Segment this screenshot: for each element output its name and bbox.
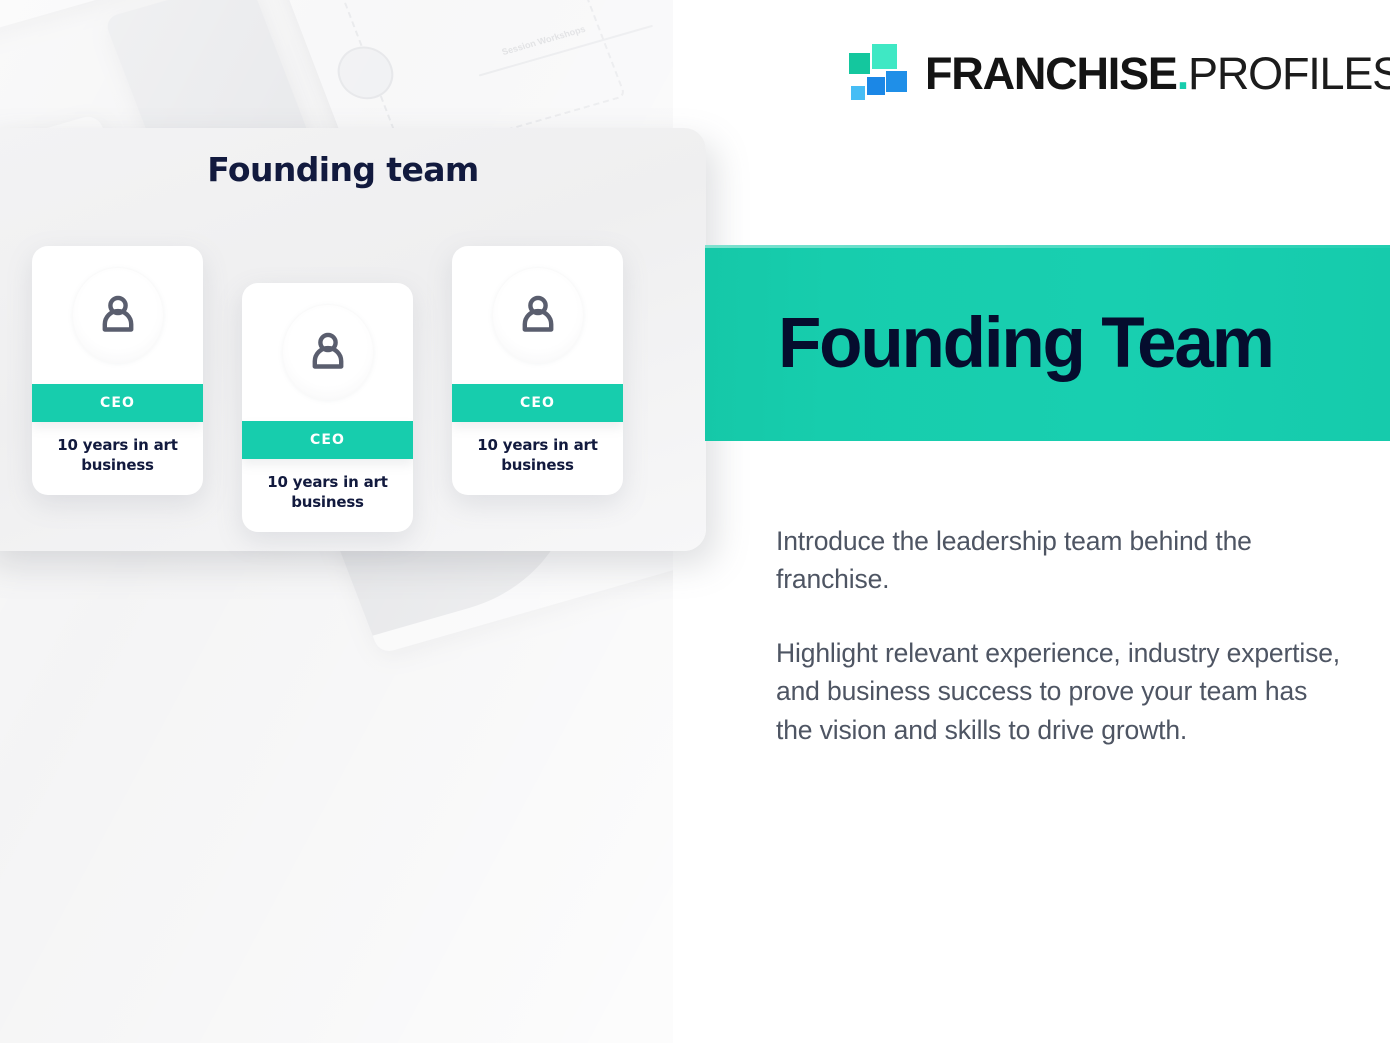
person-card[interactable]: CEO 10 years in art business [32, 246, 203, 495]
avatar-disc [492, 267, 584, 363]
role-badge: CEO [242, 421, 413, 459]
logo-word-profiles: PROFILES [1188, 48, 1390, 99]
logo-wordmark: FRANCHISE.PROFILES [925, 51, 1390, 96]
body-paragraph-1: Introduce the leadership team behind the… [776, 522, 1344, 598]
square-blue-right [886, 71, 907, 92]
person-icon [305, 329, 351, 375]
square-teal-large [872, 44, 897, 69]
logo-word-franchise: FRANCHISE [925, 48, 1177, 99]
square-blue-mid [867, 77, 885, 95]
avatar [242, 283, 413, 421]
slide-preview-title: Founding team [0, 150, 706, 189]
person-card[interactable]: CEO 10 years in art business [452, 246, 623, 495]
square-teal-dark [849, 53, 870, 74]
person-icon [95, 292, 141, 338]
avatar [32, 246, 203, 384]
slide-preview-card[interactable]: Founding team CEO 10 years in art busine… [0, 128, 706, 551]
avatar-disc [282, 304, 374, 400]
person-card[interactable]: CEO 10 years in art business [242, 283, 413, 532]
logo-mark-icon [849, 44, 907, 102]
person-bio: 10 years in art business [32, 422, 203, 476]
section-banner: Founding Team [705, 245, 1390, 441]
person-bio: 10 years in art business [242, 459, 413, 513]
brand-logo[interactable]: FRANCHISE.PROFILES [849, 42, 1390, 104]
avatar-disc [72, 267, 164, 363]
page-title: Founding Team [778, 308, 1273, 379]
person-bio: 10 years in art business [452, 422, 623, 476]
avatar [452, 246, 623, 384]
square-blue-light [851, 86, 865, 100]
role-badge: CEO [452, 384, 623, 422]
logo-dot: . [1177, 48, 1188, 99]
body-paragraph-2: Highlight relevant experience, industry … [776, 634, 1344, 748]
person-icon [515, 292, 561, 338]
role-badge: CEO [32, 384, 203, 422]
body-copy: Introduce the leadership team behind the… [776, 522, 1344, 749]
